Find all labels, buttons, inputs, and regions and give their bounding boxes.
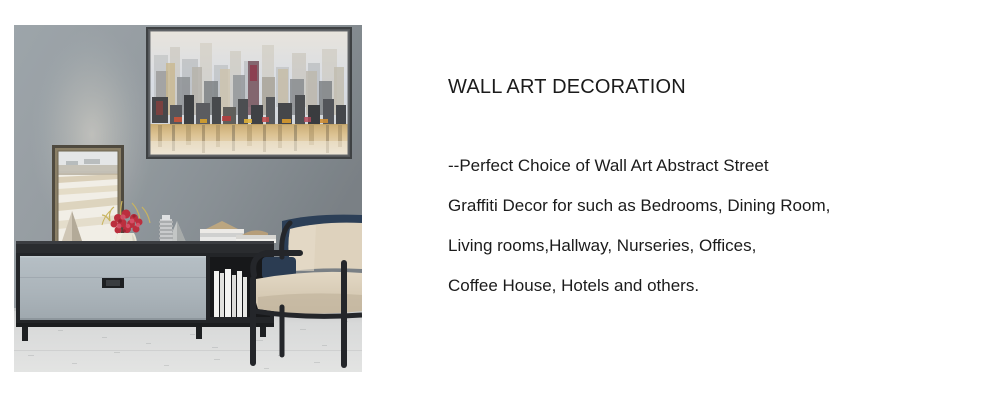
wall-art-canvas [147,28,351,158]
interior-room-photo [14,25,362,372]
description-line-2: Graffiti Decor for such as Bedrooms, Din… [448,186,968,226]
product-description-banner: WALL ART DECORATION --Perfect Choice of … [0,0,1000,400]
page-title: WALL ART DECORATION [448,74,968,100]
sideboard [16,241,274,341]
description-line-4: Coffee House, Hotels and others. [448,266,968,306]
description-text-block: WALL ART DECORATION --Perfect Choice of … [448,74,968,306]
description-paragraph: --Perfect Choice of Wall Art Abstract St… [448,146,968,306]
description-line-1: --Perfect Choice of Wall Art Abstract St… [448,146,968,186]
description-line-3: Living rooms,Hallway, Nurseries, Offices… [448,226,968,266]
framed-landscape-picture [52,145,124,249]
